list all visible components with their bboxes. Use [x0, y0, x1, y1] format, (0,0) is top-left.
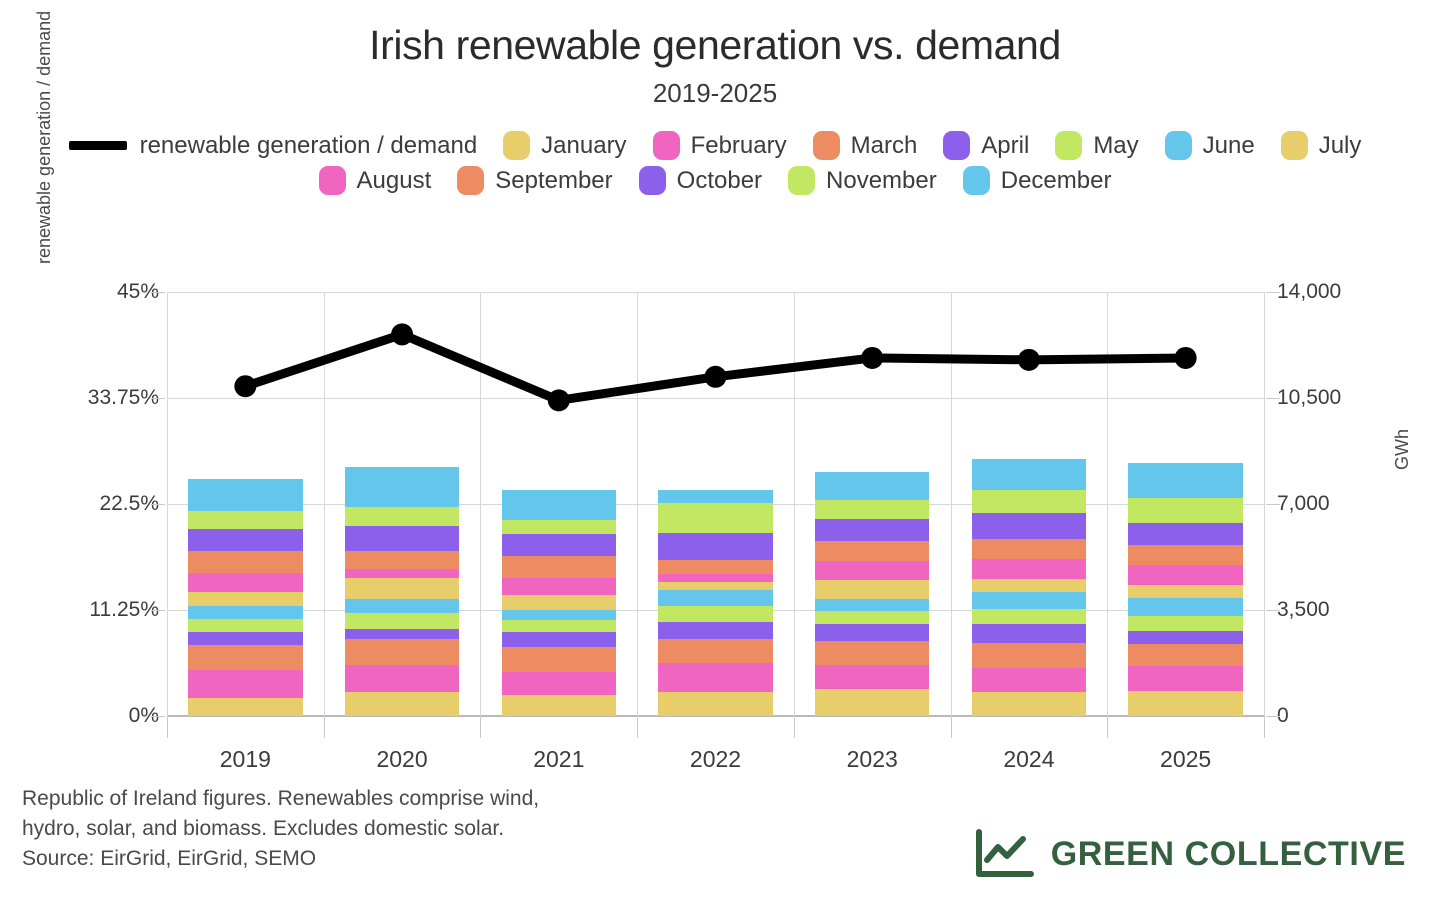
- y-axis-right-tick-mark: [1266, 504, 1280, 505]
- legend-item-december[interactable]: December: [963, 166, 1112, 195]
- bar-segment-november[interactable]: [815, 500, 929, 518]
- bar-segment-december[interactable]: [1128, 463, 1242, 498]
- page-title: Irish renewable generation vs. demand: [0, 22, 1430, 69]
- chart-plot-area: 0%011.25%3,50022.5%7,00033.75%10,50045%1…: [0, 274, 1430, 774]
- bar-segment-january[interactable]: [502, 695, 616, 716]
- bar-segment-march[interactable]: [658, 639, 772, 663]
- bar-segment-september[interactable]: [502, 556, 616, 578]
- bar-segment-december[interactable]: [345, 467, 459, 506]
- legend-item-april[interactable]: April: [943, 131, 1029, 160]
- legend-item-label: August: [357, 167, 432, 195]
- bar-segment-july[interactable]: [188, 592, 302, 607]
- bar-segment-may[interactable]: [972, 609, 1086, 624]
- bar-segment-january[interactable]: [815, 689, 929, 716]
- brand-logo: GREEN COLLECTIVE: [973, 828, 1406, 880]
- bar-segment-june[interactable]: [188, 606, 302, 618]
- bar-segment-january[interactable]: [1128, 691, 1242, 716]
- bar-segment-april[interactable]: [345, 629, 459, 639]
- bar-segment-december[interactable]: [815, 472, 929, 500]
- chart-footnote: Republic of Ireland figures. Renewables …: [22, 784, 539, 873]
- page-subtitle: 2019-2025: [0, 79, 1430, 109]
- bar-segment-june[interactable]: [1128, 598, 1242, 616]
- category-separator: [951, 292, 952, 716]
- bar-segment-june[interactable]: [345, 599, 459, 614]
- x-axis-tick-label: 2019: [220, 746, 271, 773]
- bar-segment-january[interactable]: [345, 692, 459, 716]
- bar-segment-july[interactable]: [345, 578, 459, 599]
- bar-segment-march[interactable]: [345, 639, 459, 665]
- bar-segment-november[interactable]: [345, 507, 459, 526]
- category-separator: [167, 292, 168, 716]
- legend-swatch-icon: [653, 131, 680, 160]
- legend-item-label: November: [826, 167, 937, 195]
- bar-segment-august[interactable]: [658, 574, 772, 582]
- legend-item-label: March: [851, 132, 918, 160]
- brand-name: GREEN COLLECTIVE: [1051, 835, 1406, 874]
- x-axis-tick-label: 2022: [690, 746, 741, 773]
- x-axis-tick-label: 2024: [1003, 746, 1054, 773]
- bar-segment-june[interactable]: [815, 599, 929, 611]
- legend-item-may[interactable]: May: [1055, 131, 1138, 160]
- footnote-line-2: hydro, solar, and biomass. Excludes dome…: [22, 814, 539, 844]
- x-axis-tick-label: 2025: [1160, 746, 1211, 773]
- y-axis-right-title: GWh: [1392, 429, 1413, 470]
- bar-segment-july[interactable]: [972, 579, 1086, 591]
- x-axis-tick-mark: [637, 716, 638, 738]
- bar-stack-2023[interactable]: [815, 472, 929, 716]
- bar-segment-august[interactable]: [815, 561, 929, 580]
- bar-segment-january[interactable]: [658, 692, 772, 716]
- bar-segment-september[interactable]: [188, 551, 302, 573]
- bar-segment-november[interactable]: [972, 490, 1086, 513]
- bar-segment-january[interactable]: [188, 698, 302, 716]
- bar-segment-july[interactable]: [658, 582, 772, 590]
- bar-segment-may[interactable]: [658, 606, 772, 622]
- y-axis-left-tick-mark: [151, 398, 165, 399]
- bar-segment-march[interactable]: [188, 645, 302, 670]
- y-axis-left-tick-mark: [151, 610, 165, 611]
- bar-segment-may[interactable]: [188, 619, 302, 632]
- bar-segment-december[interactable]: [658, 490, 772, 503]
- legend-swatch-icon: [813, 131, 840, 160]
- x-axis-tick-label: 2023: [847, 746, 898, 773]
- legend-item-label: May: [1093, 132, 1138, 160]
- bar-segment-may[interactable]: [345, 613, 459, 629]
- bar-segment-april[interactable]: [815, 624, 929, 641]
- legend-item-label: July: [1319, 132, 1362, 160]
- bar-segment-april[interactable]: [502, 632, 616, 648]
- y-axis-right-tick-mark: [1266, 292, 1280, 293]
- bar-segment-august[interactable]: [972, 559, 1086, 579]
- bar-segment-december[interactable]: [972, 459, 1086, 489]
- y-axis-right-tick: 7,000: [1277, 492, 1330, 516]
- legend-item-september[interactable]: September: [457, 166, 612, 195]
- bar-segment-november[interactable]: [658, 503, 772, 533]
- legend-item-line[interactable]: renewable generation / demand: [69, 132, 478, 160]
- bar-segment-march[interactable]: [502, 647, 616, 671]
- y-axis-left-tick-mark: [151, 504, 165, 505]
- legend-item-july[interactable]: July: [1281, 131, 1362, 160]
- x-axis-tick-label: 2021: [533, 746, 584, 773]
- legend-item-label: April: [981, 132, 1029, 160]
- y-axis-right-tick-mark: [1266, 398, 1280, 399]
- legend-item-november[interactable]: November: [788, 166, 937, 195]
- category-separator: [637, 292, 638, 716]
- chart-line-logo-icon: [973, 828, 1035, 880]
- legend-item-label: December: [1001, 167, 1112, 195]
- legend-swatch-icon: [963, 166, 990, 195]
- bar-segment-october[interactable]: [502, 534, 616, 556]
- bar-segment-june[interactable]: [658, 590, 772, 606]
- bar-segment-february[interactable]: [972, 668, 1086, 692]
- y-axis-right-tick: 3,500: [1277, 598, 1330, 622]
- bar-segment-november[interactable]: [502, 520, 616, 535]
- y-axis-right-tick: 14,000: [1277, 280, 1341, 304]
- bar-segment-february[interactable]: [502, 672, 616, 696]
- x-axis-tick-mark: [794, 716, 795, 738]
- x-axis-tick-mark: [1264, 716, 1265, 738]
- bar-segment-june[interactable]: [502, 610, 616, 620]
- x-axis-tick-mark: [1107, 716, 1108, 738]
- category-separator: [1264, 292, 1265, 716]
- bar-stack-2019[interactable]: [188, 479, 302, 716]
- y-axis-right-tick-mark: [1266, 610, 1280, 611]
- bar-segment-august[interactable]: [188, 573, 302, 592]
- bar-segment-october[interactable]: [658, 533, 772, 560]
- footnote-source: Source: EirGrid, EirGrid, SEMO: [22, 844, 539, 874]
- y-axis-left-title: renewable generation / demand: [34, 11, 55, 264]
- y-axis-left-tick-mark: [151, 716, 165, 717]
- bar-segment-september[interactable]: [345, 551, 459, 569]
- x-axis-tick-mark: [167, 716, 168, 738]
- legend-swatch-icon: [1055, 131, 1082, 160]
- legend-item-august[interactable]: August: [319, 166, 432, 195]
- bar-segment-october[interactable]: [345, 526, 459, 551]
- bar-segment-february[interactable]: [188, 670, 302, 698]
- bar-segment-march[interactable]: [1128, 644, 1242, 666]
- category-separator: [794, 292, 795, 716]
- bar-segment-september[interactable]: [658, 560, 772, 574]
- bar-segment-june[interactable]: [972, 592, 1086, 609]
- legend-item-label: June: [1203, 132, 1255, 160]
- gridline: [167, 398, 1264, 399]
- legend-item-february[interactable]: February: [653, 131, 787, 160]
- legend-item-label: October: [677, 167, 762, 195]
- bar-segment-august[interactable]: [345, 569, 459, 577]
- y-axis-right-tick-mark: [1266, 716, 1280, 717]
- legend-swatch-icon: [319, 166, 346, 195]
- bar-segment-may[interactable]: [815, 611, 929, 624]
- bar-stack-2025[interactable]: [1128, 463, 1242, 716]
- y-axis-right-tick: 10,500: [1277, 386, 1341, 410]
- bar-segment-november[interactable]: [188, 511, 302, 529]
- footnote-line-1: Republic of Ireland figures. Renewables …: [22, 784, 539, 814]
- bar-segment-july[interactable]: [815, 580, 929, 599]
- bar-segment-april[interactable]: [972, 624, 1086, 643]
- bar-stack-2022[interactable]: [658, 490, 772, 716]
- x-axis-tick-label: 2020: [376, 746, 427, 773]
- bar-segment-april[interactable]: [188, 632, 302, 645]
- plot-inner: [167, 292, 1264, 716]
- y-axis-left-tick-mark: [151, 292, 165, 293]
- legend-item-label: September: [495, 167, 612, 195]
- x-axis-tick-mark: [324, 716, 325, 738]
- legend-item-label: February: [691, 132, 787, 160]
- legend-swatch-icon: [639, 166, 666, 195]
- bar-segment-may[interactable]: [502, 620, 616, 632]
- y-axis-left-tick: 11.25%: [89, 598, 159, 622]
- legend-item-october[interactable]: October: [639, 166, 762, 195]
- bar-segment-may[interactable]: [1128, 616, 1242, 631]
- bar-segment-august[interactable]: [502, 578, 616, 595]
- legend-item-label: renewable generation / demand: [140, 132, 478, 160]
- x-axis-tick-mark: [951, 716, 952, 738]
- category-separator: [480, 292, 481, 716]
- bar-stack-2020[interactable]: [345, 467, 459, 716]
- bar-segment-march[interactable]: [972, 643, 1086, 668]
- legend-item-march[interactable]: March: [813, 131, 918, 160]
- legend-swatch-icon: [1281, 131, 1308, 160]
- category-separator: [324, 292, 325, 716]
- bar-segment-july[interactable]: [1128, 585, 1242, 598]
- bar-stack-2024[interactable]: [972, 459, 1086, 716]
- legend-item-june[interactable]: June: [1165, 131, 1255, 160]
- bar-segment-september[interactable]: [1128, 545, 1242, 566]
- bar-stack-2021[interactable]: [502, 490, 616, 716]
- legend-swatch-icon: [503, 131, 530, 160]
- bar-segment-september[interactable]: [972, 539, 1086, 560]
- bar-segment-december[interactable]: [502, 490, 616, 520]
- bar-segment-february[interactable]: [815, 665, 929, 689]
- bar-segment-july[interactable]: [502, 595, 616, 610]
- bar-segment-october[interactable]: [188, 529, 302, 551]
- bar-segment-february[interactable]: [345, 665, 459, 692]
- bar-segment-january[interactable]: [972, 692, 1086, 716]
- bar-segment-april[interactable]: [1128, 631, 1242, 644]
- bar-segment-november[interactable]: [1128, 498, 1242, 522]
- legend-swatch-icon: [1165, 131, 1192, 160]
- bar-segment-august[interactable]: [1128, 565, 1242, 585]
- bar-segment-april[interactable]: [658, 622, 772, 640]
- bar-segment-march[interactable]: [815, 641, 929, 665]
- legend-swatch-icon: [457, 166, 484, 195]
- legend-swatch-icon: [943, 131, 970, 160]
- chart-legend: renewable generation / demand JanuaryFeb…: [55, 131, 1375, 195]
- bar-segment-october[interactable]: [815, 519, 929, 541]
- legend-item-label: January: [541, 132, 626, 160]
- bar-segment-october[interactable]: [972, 513, 1086, 539]
- bar-segment-february[interactable]: [1128, 666, 1242, 691]
- category-separator: [1107, 292, 1108, 716]
- bar-segment-september[interactable]: [815, 541, 929, 562]
- bar-segment-october[interactable]: [1128, 523, 1242, 545]
- x-axis-tick-mark: [480, 716, 481, 738]
- y-axis-left-tick: 33.75%: [88, 386, 159, 410]
- bar-segment-december[interactable]: [188, 479, 302, 511]
- bar-segment-february[interactable]: [658, 663, 772, 692]
- legend-swatch-icon: [788, 166, 815, 195]
- line-swatch-icon: [69, 141, 127, 150]
- legend-item-january[interactable]: January: [503, 131, 626, 160]
- gridline: [167, 292, 1264, 293]
